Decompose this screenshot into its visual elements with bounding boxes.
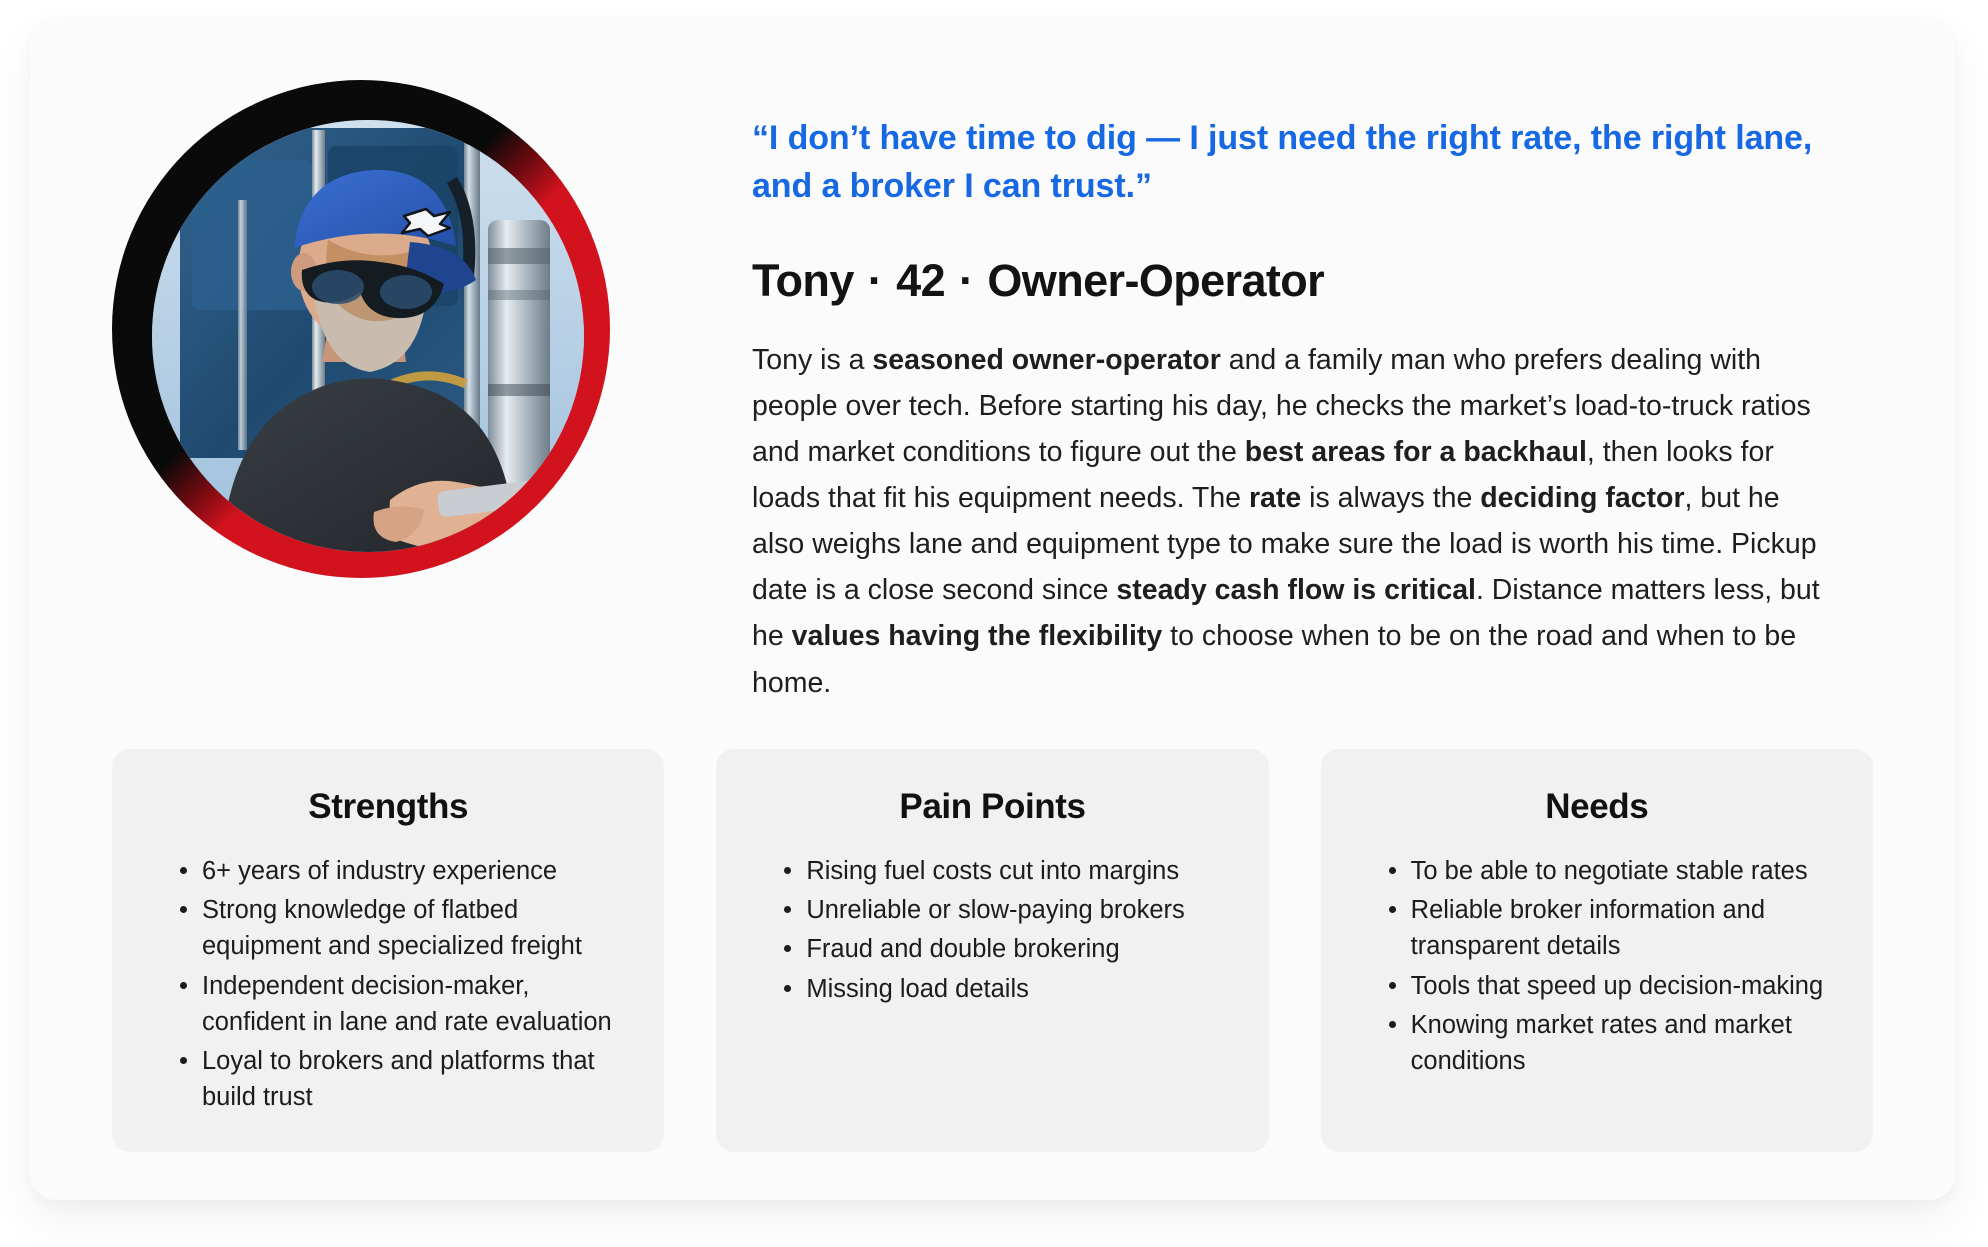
card-title-needs: Needs xyxy=(1355,787,1839,827)
persona-role-value: Owner-Operator xyxy=(987,255,1324,306)
list-item: Tools that speed up decision-making xyxy=(1389,968,1839,1004)
name-separator-2: · xyxy=(945,255,987,306)
list-item: Loyal to brokers and platforms that buil… xyxy=(180,1043,630,1115)
card-strengths: Strengths 6+ years of industry experienc… xyxy=(112,749,664,1152)
list-item: Fraud and double brokering xyxy=(784,931,1234,967)
card-title-pain-points: Pain Points xyxy=(750,787,1234,827)
name-separator-1: · xyxy=(854,255,896,306)
persona-name-value: Tony xyxy=(752,255,854,306)
list-item: Rising fuel costs cut into margins xyxy=(784,853,1234,889)
persona-bio: “I don’t have time to dig — I just need … xyxy=(752,114,1872,706)
persona-hero: “I don’t have time to dig — I just need … xyxy=(30,18,1955,748)
needs-list: To be able to negotiate stable ratesReli… xyxy=(1355,853,1839,1079)
truck-driver-photo-icon xyxy=(152,120,584,552)
pain-points-list: Rising fuel costs cut into marginsUnreli… xyxy=(750,853,1234,1007)
persona-description: Tony is a seasoned owner-operator and a … xyxy=(752,337,1827,706)
list-item: Independent decision-maker, confident in… xyxy=(180,968,630,1040)
persona-card-surface: “I don’t have time to dig — I just need … xyxy=(30,18,1955,1200)
page-title: Tony·42·Owner-Operator xyxy=(752,255,1872,307)
card-needs: Needs To be able to negotiate stable rat… xyxy=(1321,749,1873,1152)
list-item: To be able to negotiate stable rates xyxy=(1389,853,1839,889)
persona-age-value: 42 xyxy=(896,255,945,306)
list-item: Reliable broker information and transpar… xyxy=(1389,892,1839,964)
card-pain-points: Pain Points Rising fuel costs cut into m… xyxy=(716,749,1268,1152)
persona-quote: “I don’t have time to dig — I just need … xyxy=(752,114,1847,211)
card-title-strengths: Strengths xyxy=(146,787,630,827)
persona-attribute-cards: Strengths 6+ years of industry experienc… xyxy=(112,749,1873,1152)
list-item: Missing load details xyxy=(784,971,1234,1007)
strengths-list: 6+ years of industry experienceStrong kn… xyxy=(146,853,630,1115)
list-item: Unreliable or slow-paying brokers xyxy=(784,892,1234,928)
list-item: 6+ years of industry experience xyxy=(180,853,630,889)
list-item: Knowing market rates and market conditio… xyxy=(1389,1007,1839,1079)
list-item: Strong knowledge of flatbed equipment an… xyxy=(180,892,630,964)
avatar xyxy=(112,80,610,578)
avatar-photo xyxy=(152,120,584,552)
